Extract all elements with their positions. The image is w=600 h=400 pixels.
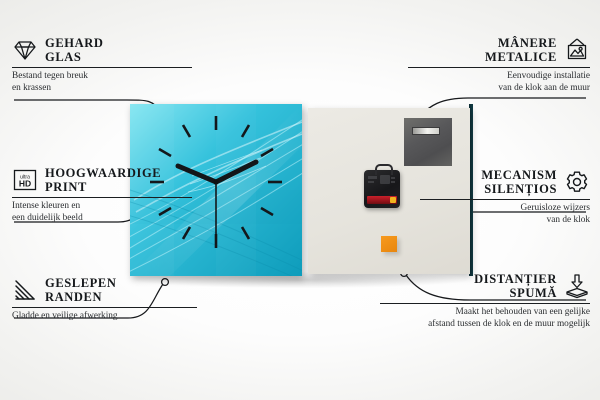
feature-title: MECANISMSILENȚIOS	[481, 168, 557, 196]
feature-rule	[12, 307, 197, 308]
feature-title: GESLEPENRANDEN	[45, 276, 117, 304]
hanger-slot	[412, 127, 440, 135]
aa-battery	[367, 196, 397, 204]
foam-spacer-pad	[381, 236, 397, 252]
feature-rule	[12, 197, 192, 198]
feature-head: GESLEPENRANDEN	[12, 276, 197, 304]
battery-plus-terminal	[390, 197, 396, 203]
feature-head: ultra HD HOOGWAARDIGEPRINT	[12, 166, 192, 194]
feature-metal-hangers: MÂNEREMETALICE Eenvoudige installatievan…	[408, 36, 590, 94]
feature-foam-spacer: DISTANȚIERSPUMĂ Maakt het behouden van e…	[380, 272, 590, 330]
feature-title: HOOGWAARDIGEPRINT	[45, 166, 161, 194]
feature-tempered-glass: GEHARDGLAS Bestand tegen breuken krassen	[12, 36, 192, 94]
feature-rule	[12, 67, 192, 68]
feature-title: GEHARDGLAS	[45, 36, 103, 64]
clock-center-cap	[213, 179, 218, 184]
mechanism-detail	[368, 175, 396, 189]
feature-desc: Geruisloze wijzersvan de klok	[420, 203, 590, 226]
picture-frame-hanger-icon	[564, 37, 590, 63]
diamond-icon	[12, 37, 38, 63]
feature-silent-mechanism: MECANISMSILENȚIOS Geruisloze wijzersvan …	[420, 168, 590, 226]
feature-head: GEHARDGLAS	[12, 36, 192, 64]
bevelled-edge-icon	[12, 277, 38, 303]
ultra-hd-icon: ultra HD	[12, 167, 38, 193]
feature-hq-print: ultra HD HOOGWAARDIGEPRINT Intense kleur…	[12, 166, 192, 224]
feature-desc: Bestand tegen breuken krassen	[12, 71, 192, 94]
infographic-canvas: GEHARDGLAS Bestand tegen breuken krassen…	[0, 0, 600, 400]
feature-head: MÂNEREMETALICE	[408, 36, 590, 64]
feature-rule	[380, 303, 590, 304]
feature-rule	[420, 199, 590, 200]
hour-hand	[216, 162, 256, 182]
feature-title: DISTANȚIERSPUMĂ	[474, 272, 557, 300]
feature-ground-edges: GESLEPENRANDEN Gladde en veilige afwerki…	[12, 276, 197, 323]
feature-rule	[408, 67, 590, 68]
mechanism-hanger-loop	[375, 164, 393, 175]
svg-text:HD: HD	[19, 179, 31, 189]
feature-head: DISTANȚIERSPUMĂ	[380, 272, 590, 300]
feature-desc: Eenvoudige installatievan de klok aan de…	[408, 71, 590, 94]
gear-icon	[564, 169, 590, 195]
foam-spacer-icon	[564, 273, 590, 299]
feature-desc: Maakt het behouden van een gelijkeafstan…	[380, 307, 590, 330]
feature-desc: Intense kleuren eneen duidelijk beeld	[12, 201, 192, 224]
metal-hanger-plate	[404, 118, 452, 166]
clock-mechanism	[364, 170, 400, 208]
feature-head: MECANISMSILENȚIOS	[420, 168, 590, 196]
feature-title: MÂNEREMETALICE	[485, 36, 557, 64]
feature-desc: Gladde en veilige afwerking	[12, 311, 197, 323]
